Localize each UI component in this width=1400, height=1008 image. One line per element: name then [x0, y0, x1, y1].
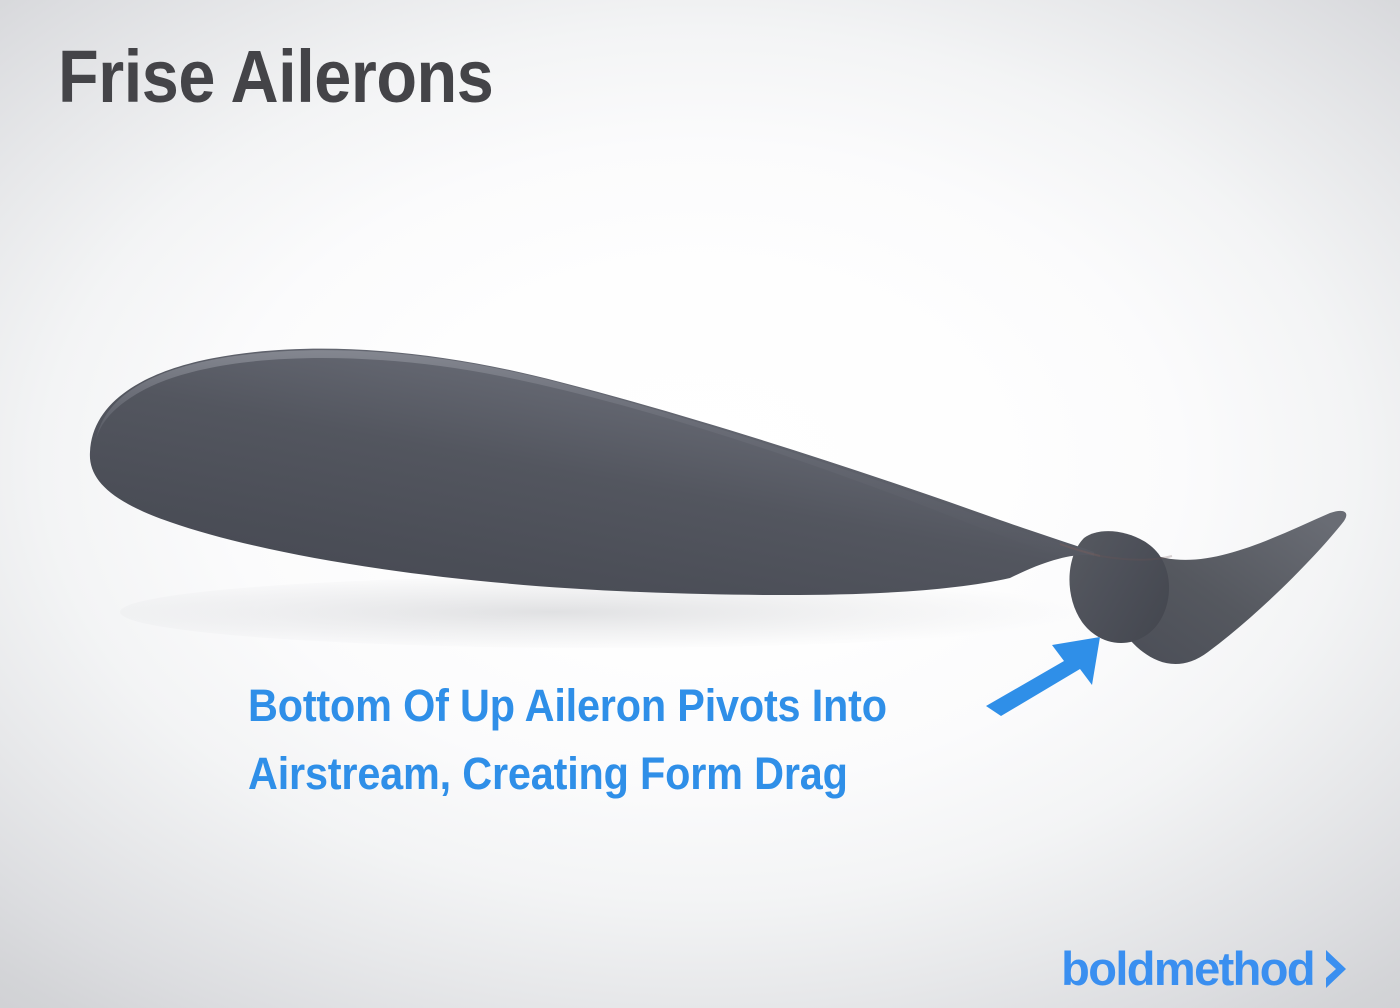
hinge-gap-seam — [1060, 544, 1100, 556]
caption-text: Bottom Of Up Aileron Pivots Into Airstre… — [248, 672, 887, 808]
page-title: Frise Ailerons — [58, 40, 493, 114]
caption-line-2: Airstream, Creating Form Drag — [248, 740, 887, 808]
logo-wordmark: boldmethod — [1061, 945, 1314, 992]
hinge-gap-seam-upper — [1100, 556, 1172, 560]
frise-aileron-diagram — [0, 0, 1400, 1008]
aileron-deflected-up — [1082, 511, 1346, 664]
boldmethod-logo[interactable]: boldmethod — [1061, 945, 1348, 992]
wing-main-body — [90, 349, 1094, 595]
slide-canvas: Frise Ailerons — [0, 0, 1400, 1008]
wing-upper-surface-highlight — [96, 350, 1090, 565]
caption-line-1: Bottom Of Up Aileron Pivots Into — [248, 672, 887, 740]
annotation-arrow — [986, 637, 1100, 716]
chevron-right-icon — [1324, 948, 1348, 990]
wing-drop-shadow — [120, 576, 1080, 648]
aileron-lower-nose — [1069, 531, 1169, 643]
